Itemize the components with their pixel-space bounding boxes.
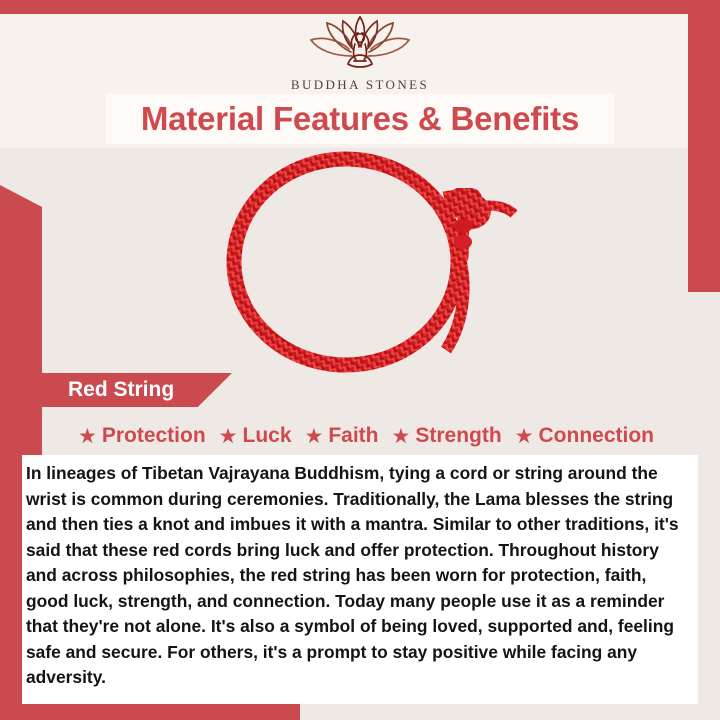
product-label-text: Red String <box>68 378 174 402</box>
feature-label: Faith <box>328 424 378 448</box>
feature-item-faith: ★ Faith <box>305 424 379 448</box>
feature-item-protection: ★ Protection <box>78 424 206 448</box>
title-banner: Material Features & Benefits <box>106 94 614 144</box>
brand-name: BUDDHA STONES <box>0 77 720 93</box>
infographic-page: BUDDHA STONES Material Features & Benefi… <box>0 0 720 720</box>
feature-label: Protection <box>102 424 206 448</box>
star-icon: ★ <box>305 426 324 447</box>
description-panel: In lineages of Tibetan Vajrayana Buddhis… <box>22 455 698 704</box>
star-icon: ★ <box>219 426 238 447</box>
feature-item-luck: ★ Luck <box>219 424 292 448</box>
description-text: In lineages of Tibetan Vajrayana Buddhis… <box>22 455 698 691</box>
lotus-meditation-icon <box>0 16 720 74</box>
feature-label: Strength <box>415 424 501 448</box>
features-list: ★ Protection ★ Luck ★ Faith ★ Strength ★… <box>42 419 690 453</box>
star-icon: ★ <box>392 426 411 447</box>
page-title: Material Features & Benefits <box>141 100 579 138</box>
feature-label: Luck <box>243 424 292 448</box>
feature-label: Connection <box>539 424 655 448</box>
star-icon: ★ <box>515 426 534 447</box>
decorative-bar-top <box>0 0 720 14</box>
brand-logo: BUDDHA STONES <box>0 16 720 93</box>
decorative-bar-bottom <box>0 704 300 720</box>
star-icon: ★ <box>78 426 97 447</box>
product-image <box>196 150 526 375</box>
feature-item-strength: ★ Strength <box>392 424 502 448</box>
feature-item-connection: ★ Connection <box>515 424 654 448</box>
